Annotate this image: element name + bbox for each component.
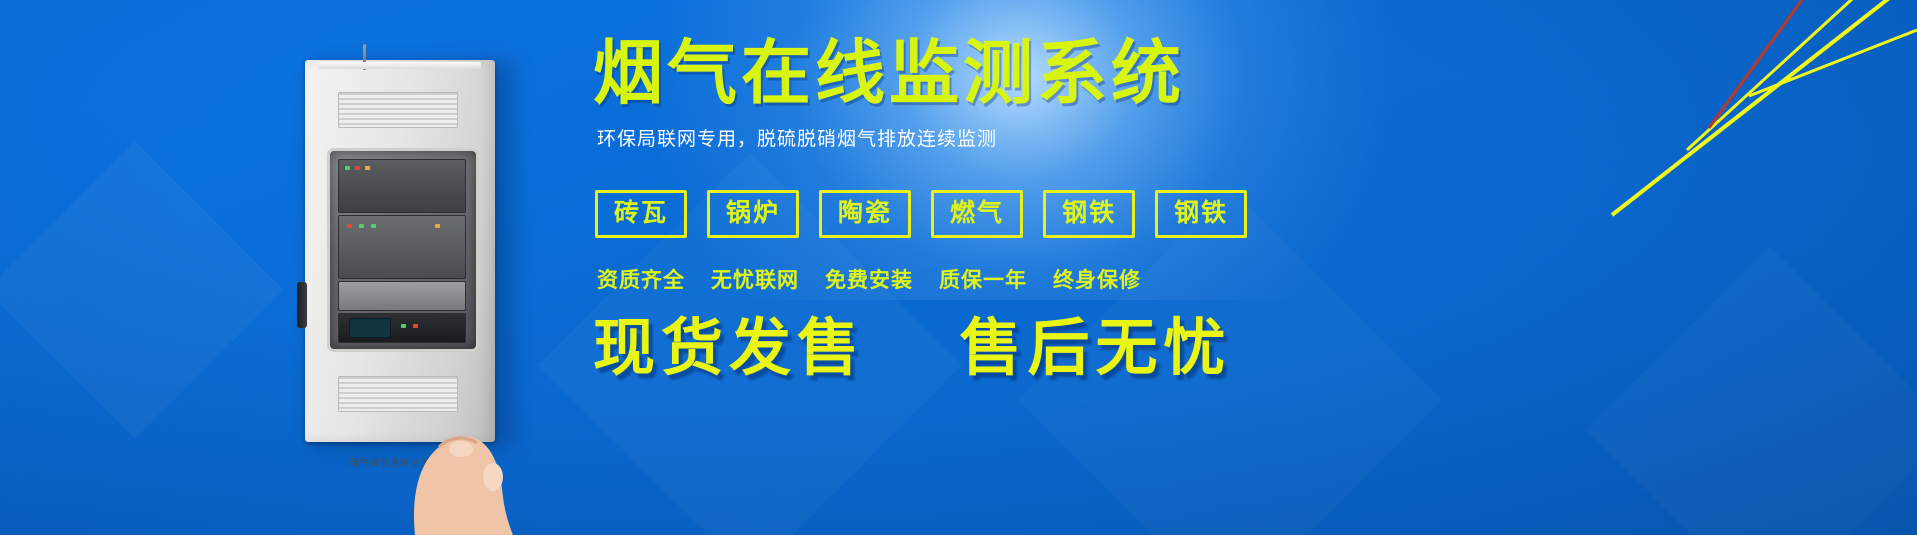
rack-module-2 [338,215,466,279]
feature-item: 无忧联网 [711,264,799,294]
slogan-right: 售后无忧 [959,314,1231,383]
rack-module-1 [338,159,466,213]
industry-tag[interactable]: 钢铁 [1155,190,1247,238]
industry-tag[interactable]: 锅炉 [707,190,799,238]
feature-list: 资质齐全 无忧联网 免费安装 质保一年 终身保修 [597,264,1141,294]
industry-tag-list: 砖瓦 锅炉 陶瓷 燃气 钢铁 钢铁 [595,190,1247,238]
product-caption: 烟气排放连续监测系统 [305,456,495,469]
banner-title: 烟气在线监测系统 [593,38,1185,108]
banner-subtitle: 环保局联网专用，脱硫脱硝烟气排放连续监测 [597,124,997,151]
product-photo: 烟气排放连续监测系统 [305,52,520,452]
cabinet-top [319,62,481,69]
cabinet-window [327,148,479,352]
industry-tag[interactable]: 砖瓦 [595,190,687,238]
feature-item: 质保一年 [939,264,1027,294]
feature-item: 资质齐全 [597,264,685,294]
vent-bottom [338,376,458,412]
feature-item: 终身保修 [1053,264,1141,294]
cabinet-handle [297,282,307,328]
feature-item: 免费安装 [825,264,913,294]
industry-tag[interactable]: 钢铁 [1043,190,1135,238]
slogan-left: 现货发售 [593,314,865,383]
industry-tag[interactable]: 陶瓷 [819,190,911,238]
analyzer-cabinet: 烟气排放连续监测系统 [305,60,495,442]
vent-top [338,92,458,128]
rack-module-3 [338,281,466,311]
banner-slogan: 现货发售 售后无忧 [593,318,1232,380]
rack-module-4 [338,313,466,343]
promo-banner: 烟气排放连续监测系统 烟气在线监测系统 环保局联网专用，脱硫脱硝烟气排放连续监测… [0,0,1917,535]
industry-tag[interactable]: 燃气 [931,190,1023,238]
banner-content: 烟气在线监测系统 环保局联网专用，脱硫脱硝烟气排放连续监测 砖瓦 锅炉 陶瓷 燃… [585,0,1685,535]
display-screen [349,318,391,338]
